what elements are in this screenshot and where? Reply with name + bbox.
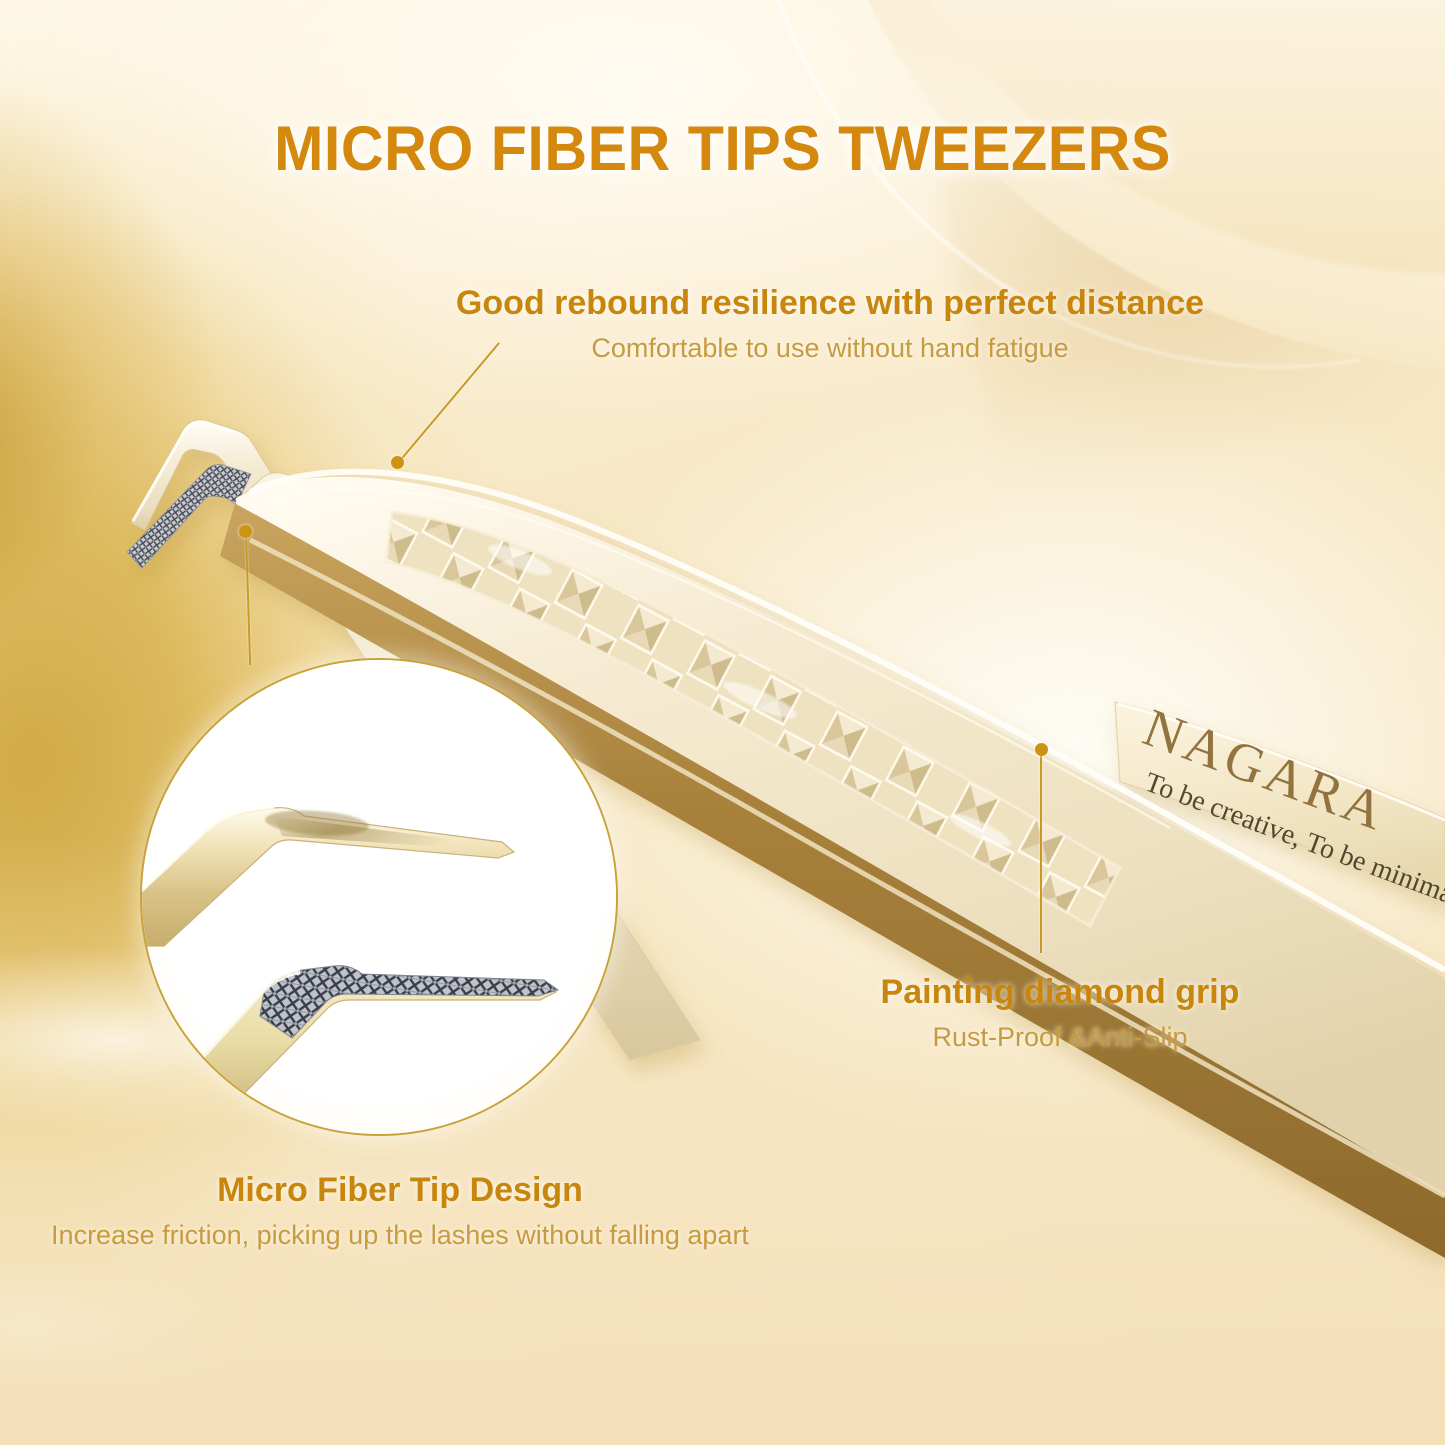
callout-tip-subtitle: Increase friction, picking up the lashes… bbox=[40, 1218, 760, 1253]
leader-line-grip bbox=[1040, 753, 1042, 953]
callout-rebound-title: Good rebound resilience with perfect dis… bbox=[455, 283, 1205, 324]
magnifier-circle-icon bbox=[140, 658, 618, 1136]
magnified-tip-illustration bbox=[142, 660, 618, 1136]
leader-dot-icon-tip bbox=[239, 525, 252, 538]
callout-grip-subtitle: Rust-Proof &Anti-Slip bbox=[760, 1020, 1360, 1055]
callout-tip-title: Micro Fiber Tip Design bbox=[40, 1170, 760, 1211]
leader-dot-icon-grip bbox=[1035, 743, 1048, 756]
page-title: MICRO FIBER TIPS TWEEZERS bbox=[43, 113, 1401, 185]
callout-grip: Painting diamond grip Rust-Proof &Anti-S… bbox=[760, 972, 1360, 1055]
callout-tip: Micro Fiber Tip Design Increase friction… bbox=[40, 1170, 760, 1253]
callout-grip-title: Painting diamond grip bbox=[760, 972, 1360, 1013]
callout-rebound-subtitle: Comfortable to use without hand fatigue bbox=[455, 331, 1205, 366]
leader-dot-icon-rebound bbox=[391, 456, 404, 469]
callout-rebound: Good rebound resilience with perfect dis… bbox=[455, 283, 1205, 366]
product-feature-graphic: NAGARA To be creative, To be minimalist,… bbox=[0, 0, 1445, 1445]
